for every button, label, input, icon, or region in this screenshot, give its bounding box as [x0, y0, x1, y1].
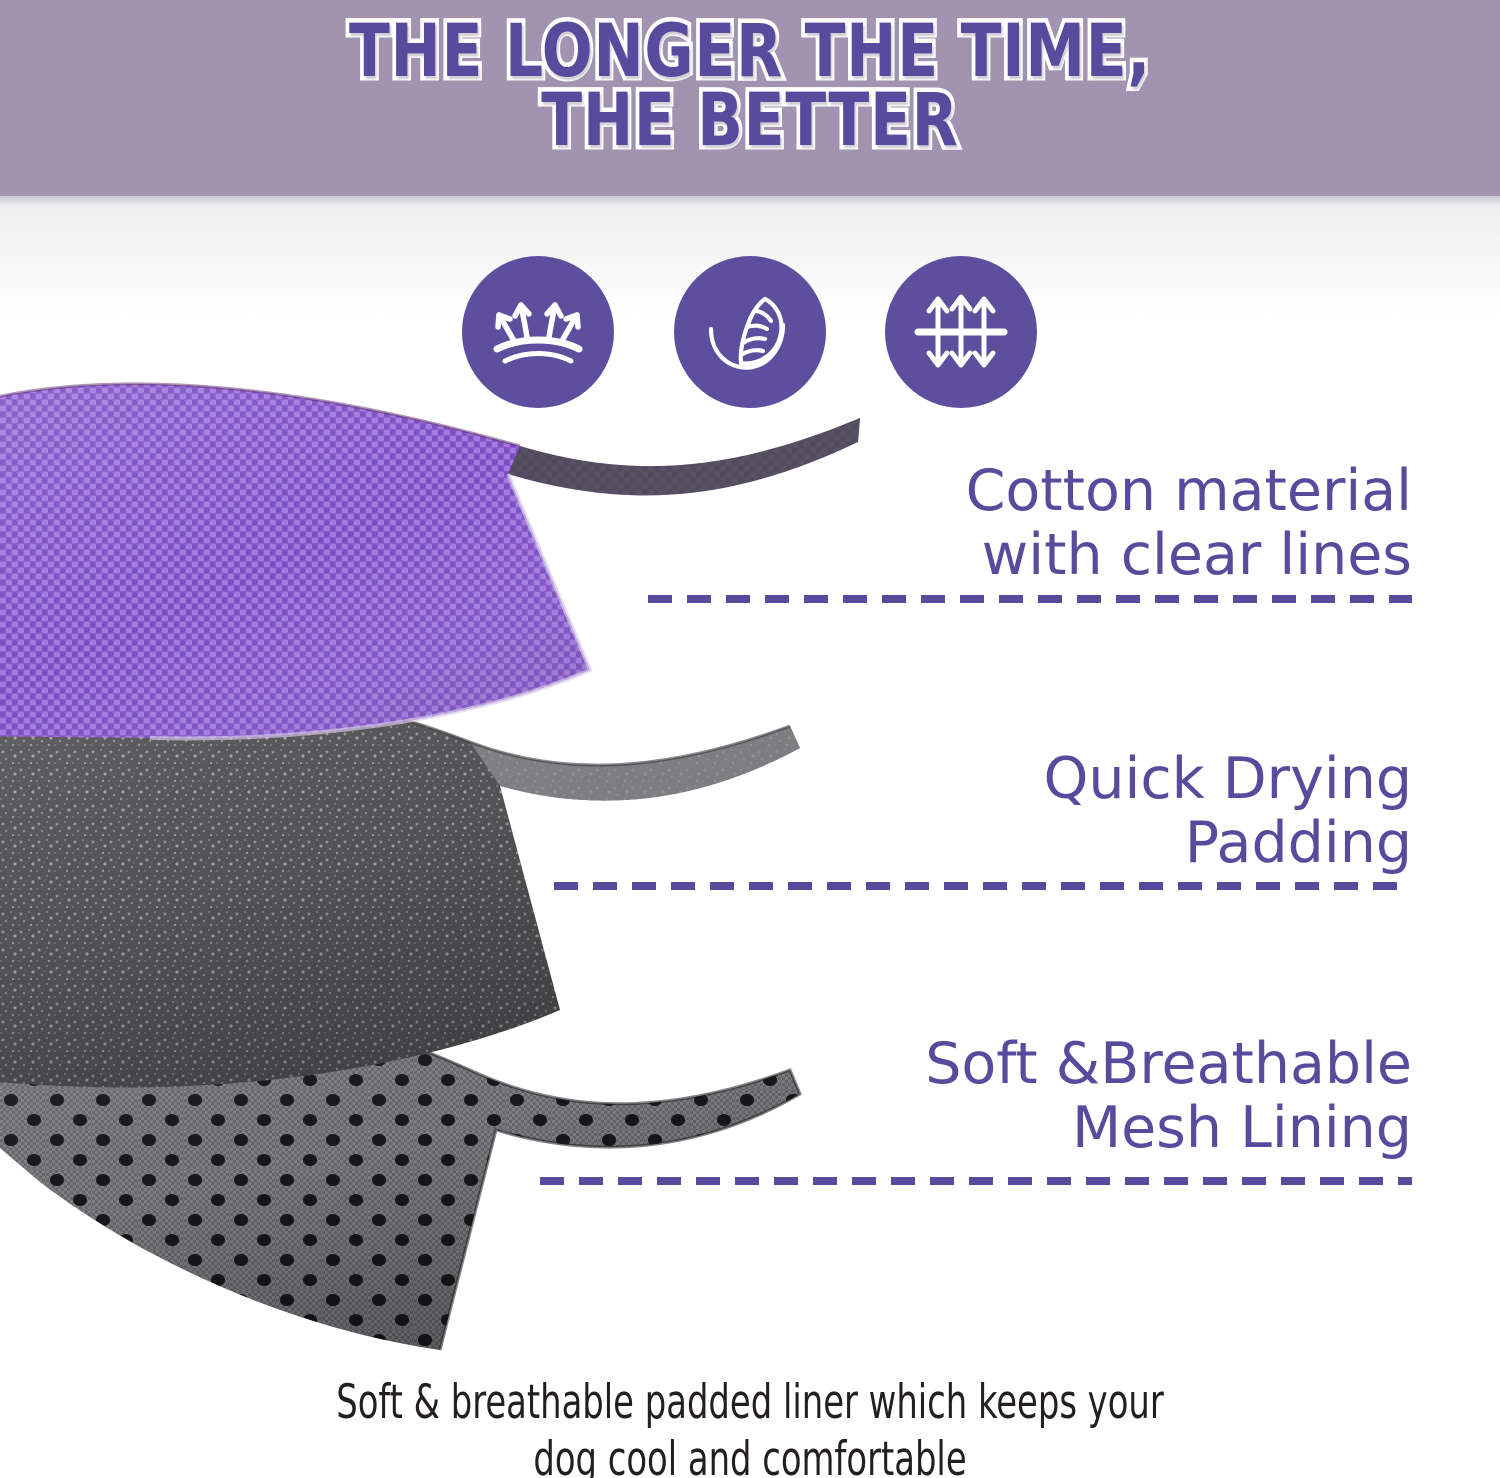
air-permeability-arrows-icon: [906, 277, 1016, 387]
header-banner-shadow: [0, 196, 1500, 206]
leader-line-mesh: [540, 1177, 1412, 1185]
page-title: THE LONGER THE TIME, THE BETTER: [135, 18, 1365, 155]
badge-air-permeability: [885, 256, 1037, 408]
leader-line-padding: [554, 882, 1412, 890]
feature-label-cotton: Cotton material with clear lines: [792, 460, 1412, 588]
bottom-caption: Soft & breathable padded liner which kee…: [150, 1374, 1350, 1478]
feature-label-mesh: Soft &Breathable Mesh Lining: [792, 1033, 1412, 1161]
leader-line-cotton: [648, 595, 1412, 603]
product-infographic: THE LONGER THE TIME, THE BETTER: [0, 0, 1500, 1478]
cotton-outer-layer: [0, 370, 900, 760]
material-layer-stack: [0, 370, 900, 1370]
feature-label-padding: Quick Drying Padding: [792, 748, 1412, 876]
